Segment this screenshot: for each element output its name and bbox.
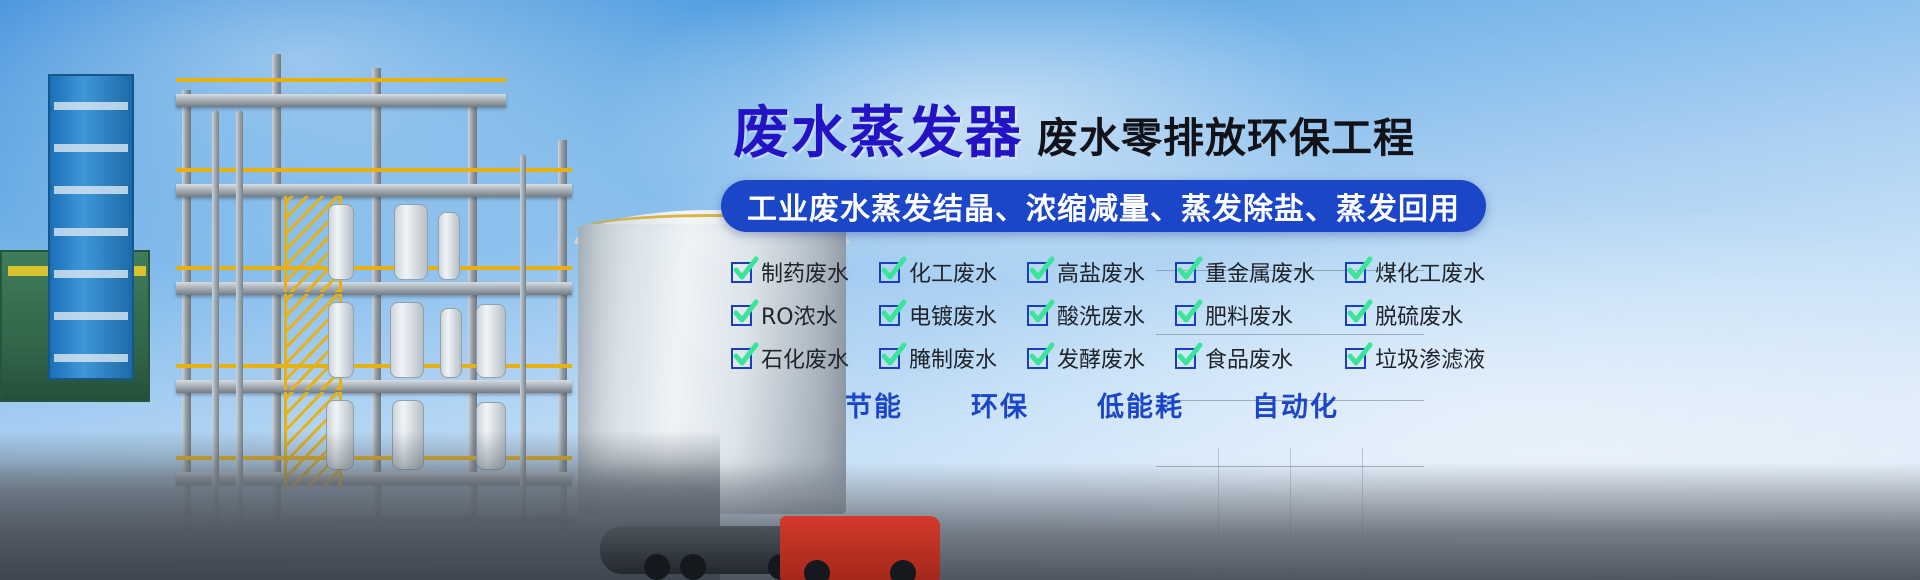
- check-icon: [731, 262, 752, 283]
- tagline-text: 工业废水蒸发结晶、浓缩减量、蒸发除盐、蒸发回用: [747, 184, 1460, 228]
- list-item-label: 脱硫废水: [1375, 299, 1463, 331]
- list-item[interactable]: 垃圾渗滤液: [1345, 342, 1485, 374]
- list-item[interactable]: 煤化工废水: [1345, 256, 1485, 288]
- list-item-label: 食品废水: [1205, 342, 1293, 374]
- check-icon: [1175, 262, 1196, 283]
- list-item-label: 电镀废水: [909, 299, 997, 331]
- list-item[interactable]: 化工废水: [879, 256, 997, 288]
- check-icon: [1027, 262, 1048, 283]
- list-item[interactable]: 脱硫废水: [1345, 299, 1485, 331]
- list-item[interactable]: RO浓水: [731, 299, 849, 331]
- check-icon: [879, 262, 900, 283]
- tagline-pill: 工业废水蒸发结晶、浓缩减量、蒸发除盐、蒸发回用: [721, 180, 1486, 232]
- banner-headline: 废水蒸发器 废水零排放环保工程: [733, 96, 1493, 162]
- list-item[interactable]: 制药废水: [731, 256, 849, 288]
- check-icon: [1027, 348, 1048, 369]
- list-item[interactable]: 石化废水: [731, 342, 849, 374]
- wastewater-type-checklist: 制药废水 化工废水 高盐废水 重金属废水: [731, 256, 1485, 374]
- list-item[interactable]: 食品废水: [1175, 342, 1315, 374]
- list-item-label: 重金属废水: [1205, 256, 1315, 288]
- check-icon: [879, 305, 900, 326]
- headline-main: 废水蒸发器: [733, 106, 1023, 162]
- headline-sub: 废水零排放环保工程: [1037, 118, 1415, 162]
- check-icon: [731, 348, 752, 369]
- check-icon: [1345, 305, 1366, 326]
- promo-banner: 废水蒸发器 废水零排放环保工程 工业废水蒸发结晶、浓缩减量、蒸发除盐、蒸发回用 …: [0, 0, 1920, 580]
- check-icon: [1345, 262, 1366, 283]
- list-item[interactable]: 电镀废水: [879, 299, 997, 331]
- list-item-label: 制药废水: [761, 256, 849, 288]
- keyword-low-consumption: 低能耗: [1097, 385, 1184, 424]
- check-icon: [1175, 348, 1196, 369]
- list-item-label: 化工废水: [909, 256, 997, 288]
- list-item-label: 高盐废水: [1057, 256, 1145, 288]
- check-icon: [731, 305, 752, 326]
- list-item-label: 酸洗废水: [1057, 299, 1145, 331]
- keyword-environmental: 环保: [971, 385, 1029, 424]
- list-item[interactable]: 高盐废水: [1027, 256, 1145, 288]
- list-item-label: 腌制废水: [909, 342, 997, 374]
- list-item[interactable]: 腌制废水: [879, 342, 997, 374]
- keyword-automation: 自动化: [1252, 385, 1339, 424]
- keyword-energy-saving: 节能: [845, 385, 903, 424]
- check-icon: [1027, 305, 1048, 326]
- list-item[interactable]: 发酵废水: [1027, 342, 1145, 374]
- list-item-label: RO浓水: [761, 299, 838, 331]
- check-icon: [879, 348, 900, 369]
- list-item-label: 垃圾渗滤液: [1375, 342, 1485, 374]
- benefit-keywords: 节能 环保 低能耗 自动化: [845, 385, 1339, 424]
- list-item-label: 石化废水: [761, 342, 849, 374]
- check-icon: [1345, 348, 1366, 369]
- list-item[interactable]: 肥料废水: [1175, 299, 1315, 331]
- list-item-label: 发酵废水: [1057, 342, 1145, 374]
- list-item[interactable]: 酸洗废水: [1027, 299, 1145, 331]
- check-icon: [1175, 305, 1196, 326]
- list-item[interactable]: 重金属废水: [1175, 256, 1315, 288]
- list-item-label: 肥料废水: [1205, 299, 1293, 331]
- list-item-label: 煤化工废水: [1375, 256, 1485, 288]
